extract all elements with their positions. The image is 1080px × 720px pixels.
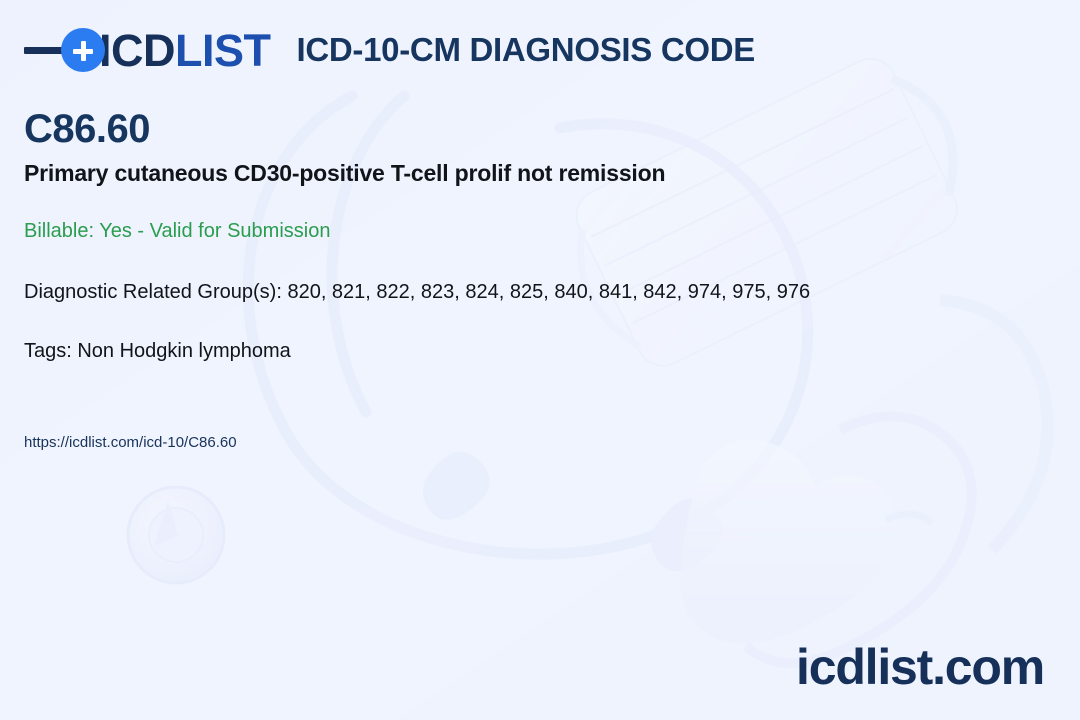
icd-code-description: Primary cutaneous CD30-positive T-cell p… — [24, 159, 1056, 188]
page-title: ICD-10-CM DIAGNOSIS CODE — [297, 31, 756, 69]
plus-icon — [61, 28, 105, 72]
brand-wordmark-icd: ICD — [99, 25, 175, 76]
site-watermark: icdlist.com — [796, 642, 1044, 692]
brand-logo[interactable]: ICDLIST — [24, 24, 271, 76]
tags-line: Tags: Non Hodgkin lymphoma — [24, 338, 1056, 364]
billable-status: Billable: Yes - Valid for Submission — [24, 219, 1056, 244]
code-details: C86.60 Primary cutaneous CD30-positive T… — [24, 108, 1056, 452]
brand-wordmark-list: LIST — [175, 25, 271, 76]
page-header: ICDLIST ICD-10-CM DIAGNOSIS CODE — [0, 0, 1080, 100]
source-url-link[interactable]: https://icdlist.com/icd-10/C86.60 — [24, 433, 237, 453]
brand-wordmark: ICDLIST — [99, 28, 271, 73]
icd-code-card: ICDLIST ICD-10-CM DIAGNOSIS CODE C86.60 … — [0, 0, 1080, 720]
icd-code-value: C86.60 — [24, 108, 1056, 151]
diagnostic-related-groups: Diagnostic Related Group(s): 820, 821, 8… — [24, 279, 1056, 305]
